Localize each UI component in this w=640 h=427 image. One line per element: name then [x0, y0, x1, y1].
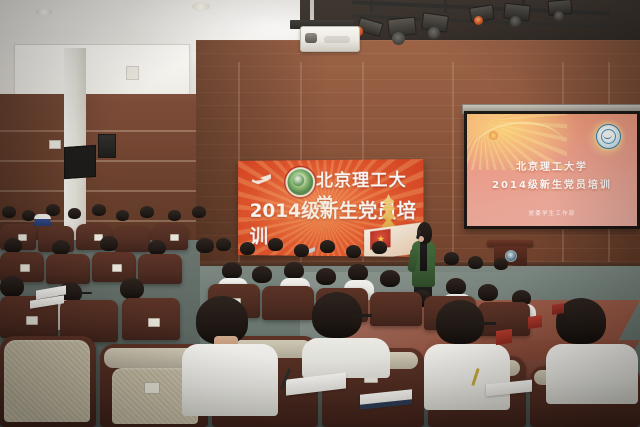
presenter-inner-top [420, 243, 427, 271]
audience-head [348, 264, 368, 281]
audience-cap-brim [34, 214, 51, 219]
seat-number-tag [148, 318, 160, 327]
audience-head [252, 266, 272, 283]
audience-head [436, 300, 484, 344]
lighting-truss [352, 0, 612, 46]
spotlight-lens [428, 27, 440, 39]
wall-seam [452, 62, 454, 270]
seat-cushion [4, 340, 90, 422]
audience-head [4, 238, 22, 253]
audience-head [346, 245, 361, 258]
auditorium-seat[interactable] [262, 286, 314, 320]
projector-vent [324, 36, 350, 43]
audience-head [294, 244, 309, 257]
audience-head [116, 210, 129, 221]
spotlight-lens [510, 16, 521, 27]
audience-head [216, 238, 231, 251]
eyeglasses [354, 314, 372, 317]
audience-head [240, 242, 255, 255]
projection-screen: 北京理工大学 2014级新生党员培训 党委学生工作部 [467, 114, 637, 226]
spotlight-lens [554, 11, 564, 21]
auditorium-seat[interactable] [114, 226, 150, 252]
wall-panel [14, 44, 190, 100]
audience-head [68, 208, 81, 219]
audience-head [120, 278, 144, 299]
booklet [528, 315, 542, 329]
slide-footer-text: 党委学生工作部 [467, 209, 637, 217]
audience-head [52, 240, 70, 255]
eyeglasses [478, 322, 496, 325]
left-wall-shadow [0, 94, 196, 244]
audience-head [100, 236, 118, 251]
seat-number-tag [26, 316, 38, 325]
audience-head [192, 206, 206, 218]
audience-head [478, 284, 498, 301]
audience-head [2, 206, 16, 218]
audience-head [320, 240, 335, 253]
audience-head [0, 276, 24, 297]
eyeglasses [78, 292, 92, 294]
slide-title-line2: 2014级新生党员培训 [467, 176, 637, 191]
audience-shirt [302, 338, 390, 378]
audience-head [140, 206, 154, 218]
wall-outlet [49, 140, 61, 149]
spotlight-lens [474, 16, 483, 25]
ceiling-downlight [36, 8, 52, 16]
seat-number-tag [170, 234, 179, 241]
audience-head [316, 268, 336, 285]
auditorium-seat[interactable] [370, 292, 422, 326]
audience-head [468, 256, 483, 269]
projector-mount [310, 0, 314, 22]
slide-title-line1: 北京理工大学 [467, 158, 637, 173]
audience-head [446, 278, 466, 295]
audience-head [372, 241, 387, 254]
auditorium-seat[interactable] [46, 254, 90, 284]
audience-shirt [424, 344, 510, 410]
audience-head [168, 210, 181, 221]
audience-head [222, 262, 242, 279]
slide-accent-dot [489, 131, 498, 140]
audience-head [22, 210, 35, 221]
spotlight-lens [392, 32, 405, 45]
audience-head [148, 240, 166, 255]
audience-shirt [546, 344, 638, 404]
slide-emblem-arc [603, 131, 612, 139]
panel-label [126, 66, 139, 80]
seat-number-tag [144, 382, 160, 394]
audience-head [380, 270, 400, 287]
booklet [496, 329, 512, 345]
audience-head [284, 262, 304, 279]
audience-shirt [182, 344, 278, 416]
ceiling-downlight [192, 2, 210, 11]
audience-head [196, 238, 214, 253]
wall-speaker [98, 134, 116, 158]
projector-lens-icon [305, 33, 317, 43]
audience-head [494, 258, 508, 270]
seat-number-tag [20, 264, 30, 272]
audience-head [444, 252, 459, 265]
audience-head [92, 204, 106, 216]
auditorium-photo: 北京理工大学 2014级新生党员培训 党委学生工作部 北京理工大学 2014级新… [0, 0, 640, 427]
truss-strut [370, 0, 373, 12]
wall-black-panel [64, 145, 96, 179]
audience-head [268, 238, 283, 251]
truss-strut [444, 0, 447, 13]
booklet [552, 303, 564, 315]
seat-number-tag [112, 264, 122, 272]
auditorium-seat[interactable] [138, 254, 182, 284]
